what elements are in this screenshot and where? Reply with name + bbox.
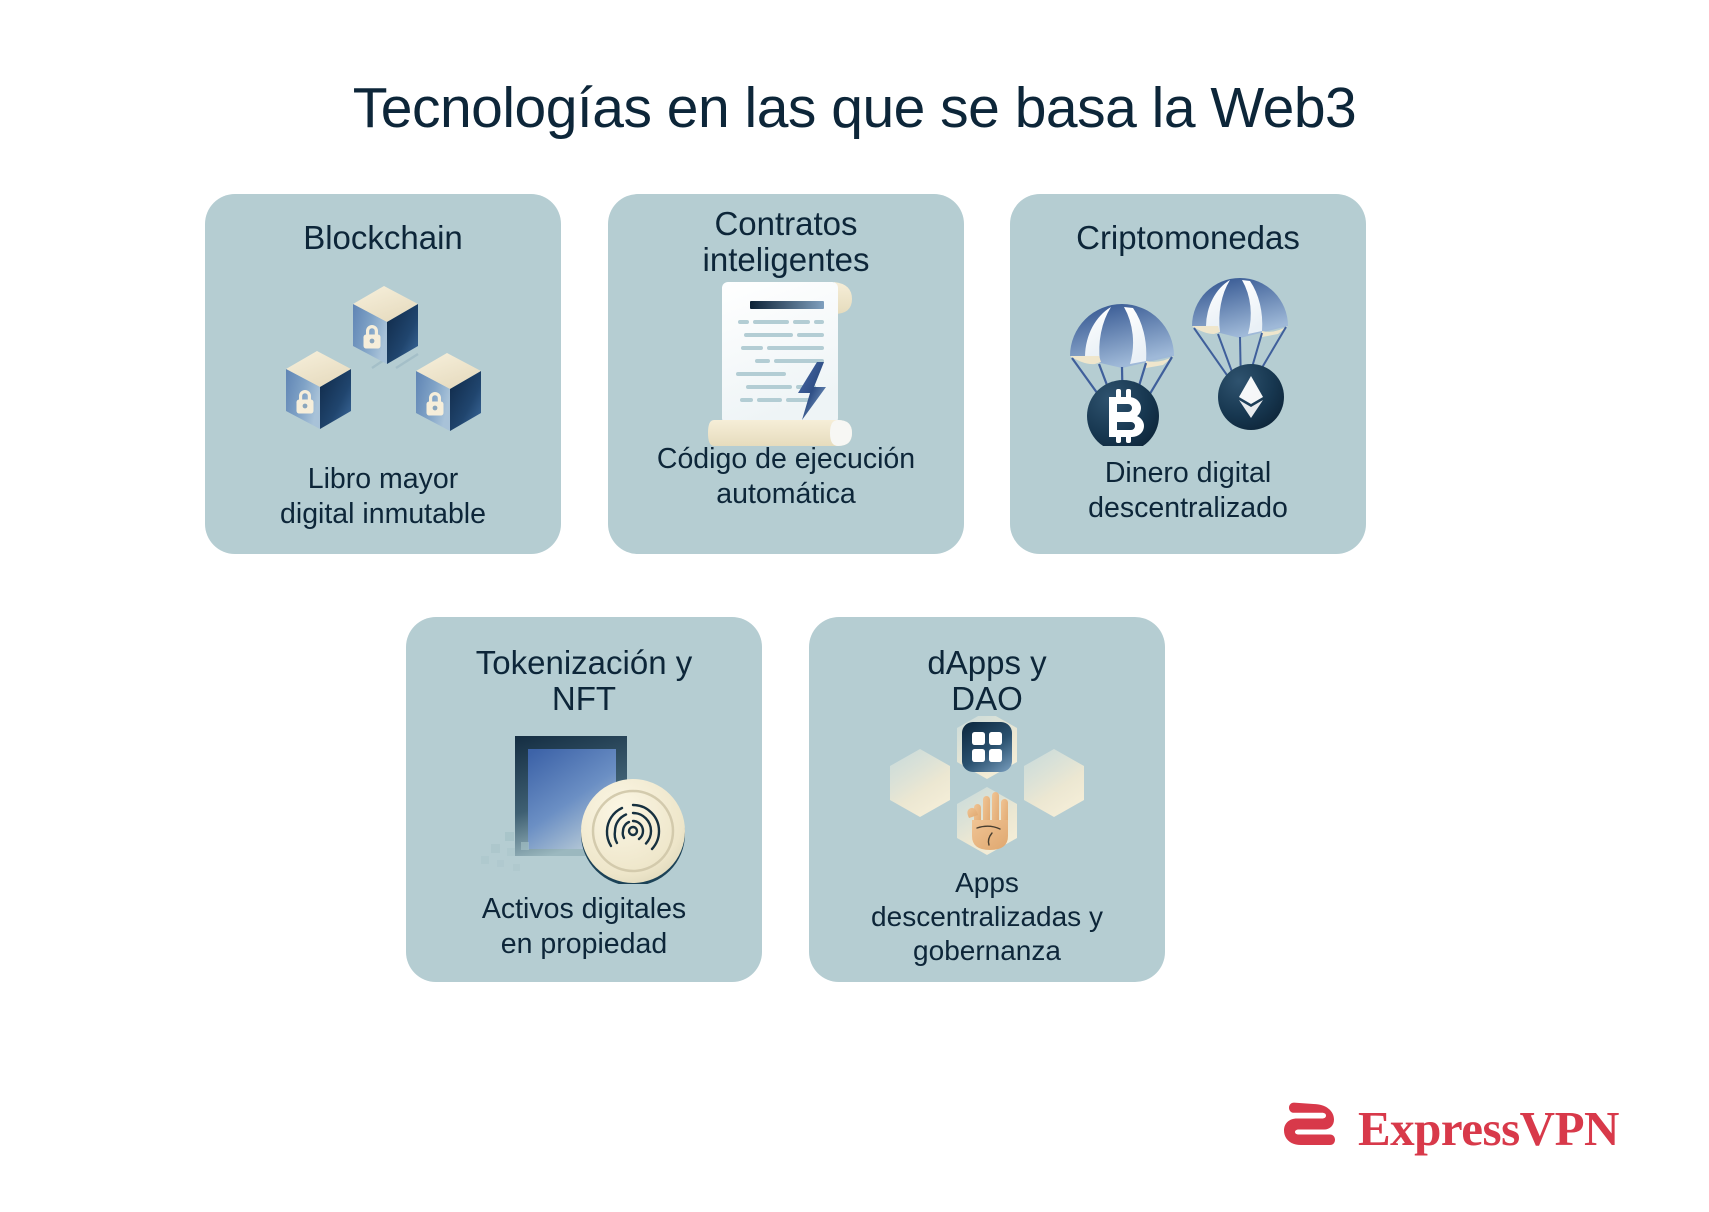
hexagons-app-grid-raised-hand-icon	[872, 716, 1102, 866]
card-dapps-title: dApps y DAO	[927, 645, 1046, 716]
card-crypto-description: Dinero digital descentralizado	[1088, 456, 1288, 526]
card-blockchain: Blockchain	[205, 194, 561, 554]
expressvpn-wordmark: ExpressVPN	[1358, 1104, 1619, 1153]
card-nft-description: Activos digitales en propiedad	[482, 892, 686, 962]
card-dapps-art	[823, 716, 1151, 865]
card-crypto-title: Criptomonedas	[1076, 220, 1300, 256]
card-nft-title: Tokenización y NFT	[476, 645, 692, 716]
card-contracts-description: Código de ejecución automática	[657, 442, 915, 512]
card-nft: Tokenización y NFT	[406, 617, 762, 982]
expressvpn-logo: ExpressVPN	[1282, 1097, 1619, 1159]
page-title: Tecnologías en las que se basa la Web3	[0, 78, 1709, 140]
parachuting-bitcoin-ethereum-coins-icon	[1058, 266, 1318, 446]
card-blockchain-description: Libro mayor digital inmutable	[280, 462, 486, 532]
framed-artwork-fingerprint-token-icon	[477, 724, 692, 884]
card-contracts: Contratos inteligentes	[608, 194, 964, 554]
scroll-contract-lightning-icon	[706, 270, 866, 450]
card-crypto-art	[1024, 256, 1352, 457]
card-blockchain-title: Blockchain	[303, 220, 463, 256]
expressvpn-e-mark-icon	[1282, 1097, 1344, 1159]
card-dapps: dApps y DAO	[809, 617, 1165, 982]
card-dapps-description: Apps descentralizadas y gobernanza	[871, 866, 1103, 968]
card-contracts-title: Contratos inteligentes	[703, 206, 870, 277]
card-blockchain-art	[219, 256, 547, 463]
card-crypto: Criptomonedas	[1010, 194, 1366, 554]
card-nft-art	[420, 716, 748, 892]
infographic-stage: Tecnologías en las que se basa la Web3 B…	[0, 0, 1709, 1212]
card-contracts-art	[622, 277, 950, 442]
locked-cubes-network-icon	[268, 272, 498, 447]
